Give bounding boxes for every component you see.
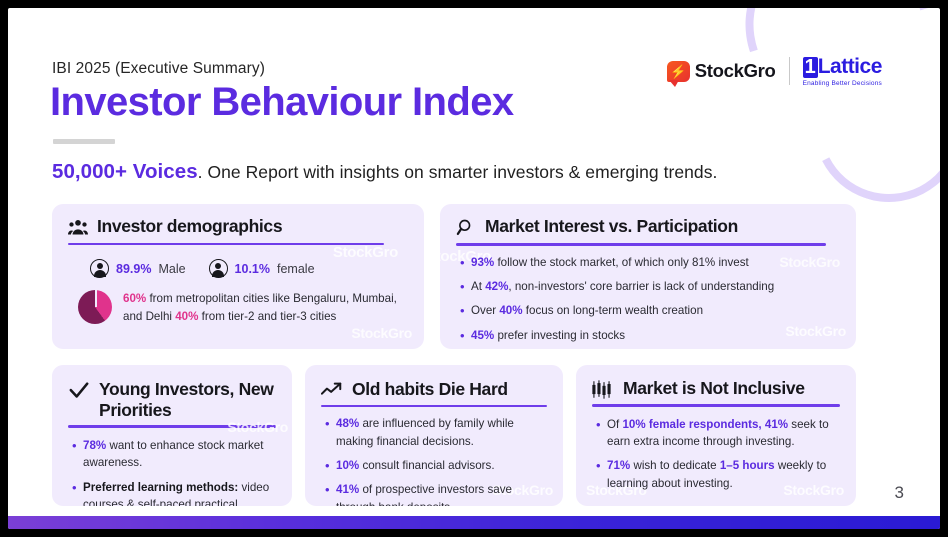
card-title: Market is Not Inclusive (623, 378, 805, 399)
list-item: 48% are influenced by family while makin… (325, 415, 547, 450)
female-avatar-icon (209, 259, 228, 278)
list-item: Preferred learning methods: video course… (72, 479, 276, 506)
list-item: Over 40% focus on long-term wealth creat… (460, 302, 840, 319)
habits-bullet-list: 48% are influenced by family while makin… (305, 407, 563, 506)
card-title: Investor demographics (97, 216, 282, 237)
stockgro-bolt-icon: ⚡ (667, 61, 690, 82)
page-number: 3 (895, 483, 904, 503)
card-title: Old habits Die Hard (352, 379, 508, 400)
pie-chart-icon (78, 290, 112, 324)
card-title: Young Investors, New Priorities (99, 379, 278, 420)
metro-text-2: from tier-2 and tier-3 cities (198, 310, 336, 323)
logo-group: ⚡ StockGro 1 Lattice Enabling Better Dec… (667, 55, 882, 87)
lattice-tagline: Enabling Better Decisions (803, 80, 882, 87)
lattice-logo-text: Lattice (818, 55, 882, 79)
market-bullet-list: 93% follow the stock market, of which on… (440, 246, 856, 345)
male-label: Male (158, 262, 185, 276)
metro-split-row: 60% from metropolitan cities like Bengal… (52, 278, 424, 326)
list-item: 10% consult financial advisors. (325, 457, 547, 474)
female-label: female (277, 262, 315, 276)
gender-split-row: 89.9% Male 10.1% female (52, 245, 424, 278)
card-title: Market Interest vs. Participation (485, 216, 738, 237)
stockgro-logo: ⚡ StockGro (667, 60, 776, 82)
card-market-not-inclusive: StockGro StockGro Market is Not Inclusiv… (576, 365, 856, 506)
list-item: At 42%, non-investors' core barrier is l… (460, 278, 840, 295)
lattice-one-badge: 1 (803, 57, 818, 78)
footer-accent-bar (8, 516, 940, 529)
list-item: 45% prefer investing in stocks (460, 327, 840, 344)
candlestick-chart-icon (592, 378, 614, 399)
card-investor-demographics: StockGro StockGro Investor demographics … (52, 204, 424, 349)
subtitle-highlight: 50,000+ Voices (52, 160, 198, 183)
female-percentage: 10.1% (235, 262, 270, 276)
slide-kicker: IBI 2025 (Executive Summary) (52, 60, 265, 78)
list-item: 71% wish to dedicate 1–5 hours weekly to… (596, 457, 840, 492)
card-young-investors: StockGro Young Investors, New Priorities… (52, 365, 292, 506)
list-item: Of 10% female respondents, 41% seek to e… (596, 416, 840, 451)
lattice-logo: 1 Lattice Enabling Better Decisions (803, 55, 882, 87)
male-percentage: 89.9% (116, 262, 151, 276)
check-icon (68, 379, 90, 401)
card-old-habits: StockGro Old habits Die Hard 48% are inf… (305, 365, 563, 506)
slide: IBI 2025 (Executive Summary) Investor Be… (8, 8, 940, 529)
metro-description: 60% from metropolitan cities like Bengal… (123, 290, 406, 326)
male-avatar-icon (90, 259, 109, 278)
stockgro-logo-text: StockGro (695, 60, 776, 82)
metro-percentage: 60% (123, 292, 146, 305)
list-item: 41% of prospective investors save throug… (325, 481, 547, 506)
tier-percentage: 40% (175, 310, 198, 323)
title-underline-rule (53, 139, 115, 144)
list-item: 78% want to enhance stock market awarene… (72, 437, 276, 472)
inclusive-bullet-list: Of 10% female respondents, 41% seek to e… (576, 407, 856, 493)
watermark: StockGro (351, 325, 412, 341)
list-item: 93% follow the stock market, of which on… (460, 254, 840, 271)
card-market-interest: StockGro StockGro StockGro Market Intere… (440, 204, 856, 349)
page-title: Investor Behaviour Index (50, 80, 514, 125)
slide-subtitle: 50,000+ Voices. One Report with insights… (52, 160, 717, 184)
young-bullet-list: 78% want to enhance stock market awarene… (52, 428, 292, 506)
people-group-icon (68, 216, 88, 236)
logo-divider (789, 57, 790, 85)
subtitle-rest: . One Report with insights on smarter in… (198, 162, 718, 182)
magnifying-glass-icon (456, 216, 476, 237)
trending-up-icon (321, 379, 343, 399)
